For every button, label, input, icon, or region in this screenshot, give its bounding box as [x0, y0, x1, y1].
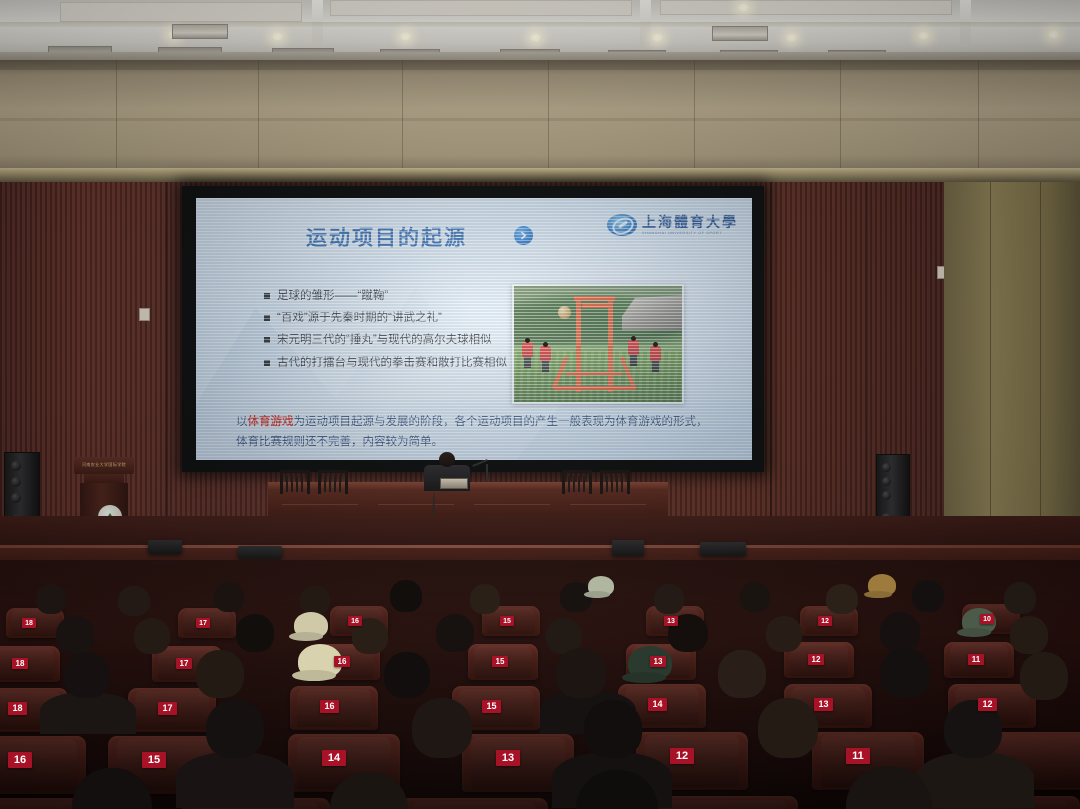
seat-number: 16 [8, 752, 32, 768]
seat-number: 10 [980, 614, 994, 624]
ceiling-inset [660, 0, 952, 15]
seat-number: 13 [664, 616, 678, 626]
seat[interactable] [400, 798, 548, 809]
downlight [530, 33, 541, 42]
seat-number: 16 [334, 656, 350, 667]
chair [280, 470, 310, 494]
bullet-text: 古代的打擂台与现代的拳击赛和散打比赛相似 [277, 357, 507, 370]
bullet-square-icon [264, 315, 270, 321]
bullet-text: “百戏”源于先秦时期的“讲武之礼” [277, 312, 442, 325]
summary-highlight: 体育游戏 [248, 416, 294, 428]
ceiling-inset [60, 2, 302, 22]
seat-number: 15 [500, 616, 514, 626]
cuju-ball [558, 306, 571, 319]
ceiling [0, 0, 1080, 60]
downlight [786, 33, 797, 42]
audience-seating: 18 17 16 15 13 12 10 [0, 560, 1080, 809]
wall-outlet [139, 308, 150, 321]
slide-photo-cuju [512, 284, 684, 404]
podium-top: 河南农业大学国际学院 [74, 457, 134, 474]
ceiling-beam [0, 22, 1080, 27]
slide-title: 运动项目的起源 [306, 222, 467, 252]
microphone-stand [486, 464, 488, 482]
seat-number: 14 [648, 698, 667, 711]
summary-prefix: 以 [236, 416, 248, 428]
floor-monitor [238, 546, 282, 559]
floor-monitor [612, 540, 644, 556]
seat-number: 15 [492, 656, 508, 667]
bullet-square-icon [264, 293, 270, 299]
seat-number: 18 [8, 702, 27, 715]
right-wall-panel [944, 182, 1080, 562]
laptop [440, 478, 468, 489]
seat-number: 17 [176, 658, 192, 669]
seat-number: 15 [142, 752, 166, 768]
seat-number: 13 [650, 656, 666, 667]
seat-number: 12 [670, 748, 694, 764]
summary-rest: 为运动项目起源与发展的阶段，各个运动项目的产生一般表现为体育游戏的形式，体育比赛… [236, 416, 708, 448]
seat-number: 11 [968, 654, 984, 665]
air-vent [172, 24, 228, 39]
seat-number: 18 [12, 658, 28, 669]
university-logo: 上海體育大學 SHANGHAI UNIVERSITY OF SPORT [607, 214, 738, 236]
chair [562, 470, 592, 494]
bullet-text: 足球的雏形——“蹴鞠” [277, 290, 388, 303]
bullet-square-icon [264, 337, 270, 343]
seat-number: 15 [482, 700, 501, 713]
seat-number: 13 [814, 698, 833, 711]
downlight [918, 31, 929, 40]
downlight [272, 32, 283, 41]
seat-number: 17 [158, 702, 177, 715]
downlight [400, 32, 411, 41]
auditorium-photo: 运动项目的起源 上海體育大學 SHANGHAI UNIVERSITY OF SP… [0, 0, 1080, 809]
floor-monitor [700, 542, 746, 556]
seat-number: 14 [322, 750, 346, 766]
chevron-right-icon [514, 226, 533, 245]
bullet-text: 宋元明三代的“捶丸”与现代的高尔夫球相似 [277, 334, 492, 347]
cornice-trim [0, 168, 1080, 182]
floor-monitor [148, 540, 182, 554]
air-vent [712, 26, 768, 41]
seat-number: 16 [320, 700, 339, 713]
chair [318, 470, 348, 494]
slide-summary-text: 以体育游戏为运动项目起源与发展的阶段，各个运动项目的产生一般表现为体育游戏的形式… [236, 412, 714, 452]
seat-number: 12 [978, 698, 997, 711]
logo-text-cn: 上海體育大學 [642, 215, 738, 229]
downlight [652, 33, 663, 42]
seat[interactable] [650, 796, 798, 809]
downlight [1048, 30, 1059, 39]
seat-number: 12 [808, 654, 824, 665]
chair [600, 470, 630, 494]
logo-mark-icon [607, 214, 637, 236]
upper-wall-band [0, 60, 1080, 182]
seat-number: 13 [496, 750, 520, 766]
bullet-square-icon [264, 360, 270, 366]
seat-number: 18 [22, 618, 36, 628]
seat-number: 17 [196, 618, 210, 628]
logo-text-en: SHANGHAI UNIVERSITY OF SPORT [642, 231, 738, 235]
seat-number: 12 [818, 616, 832, 626]
seat-number: 16 [348, 616, 362, 626]
seat-number: 11 [846, 748, 870, 764]
seat[interactable] [0, 646, 60, 682]
ceiling-inset [330, 0, 632, 16]
podium-label: 河南农业大学国际学院 [80, 462, 128, 468]
downlight [738, 3, 749, 12]
projection-screen: 运动项目的起源 上海體育大學 SHANGHAI UNIVERSITY OF SP… [196, 198, 752, 460]
